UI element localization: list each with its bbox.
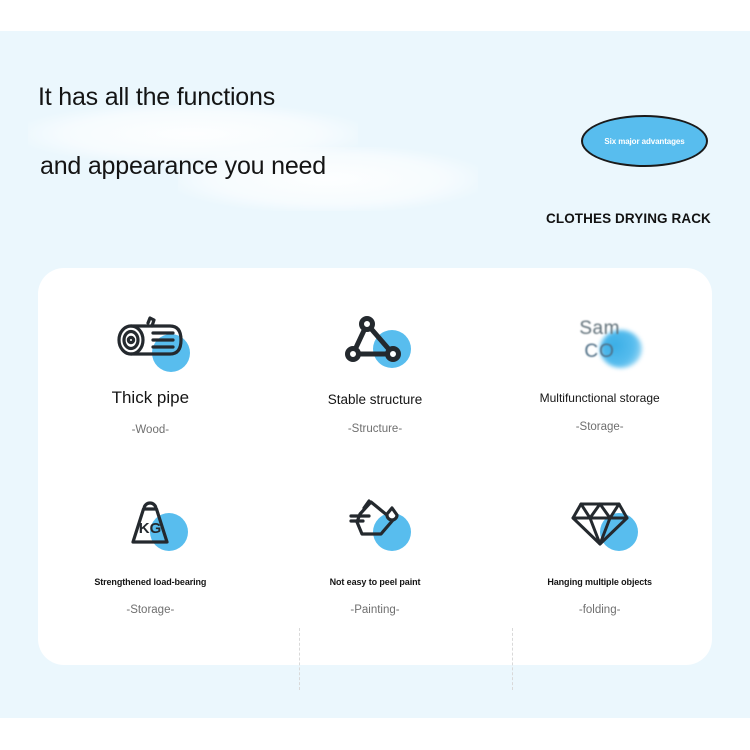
feature-subtitle: -Wood- (132, 424, 170, 436)
headline-line-2: and appearance you need (40, 154, 458, 179)
badge-label: Six major advantages (604, 137, 684, 146)
features-grid: Thick pipe -Wood- Stable structure -Stru… (38, 268, 712, 665)
feature-item-stable-structure[interactable]: Stable structure -Structure- (263, 268, 488, 467)
feature-title: Stable structure (328, 392, 423, 407)
column-divider (299, 628, 300, 690)
feature-item-hanging-objects[interactable]: Hanging multiple objects -folding- (487, 467, 712, 666)
feature-title: Strengthened load-bearing (94, 577, 206, 587)
feature-item-multifunctional-storage[interactable]: Sam CO Multifunctional storage -Storage- (487, 268, 712, 467)
diamond-icon (554, 487, 646, 559)
triangle-nodes-structure-icon (329, 304, 421, 376)
logo-line-1: Sam (579, 319, 620, 338)
feature-item-peel-paint[interactable]: Not easy to peel paint -Painting- (263, 467, 488, 666)
sam-co-logo-icon: Sam CO (554, 304, 646, 376)
logo-line-2: CO (579, 342, 620, 361)
log-wood-icon (104, 304, 196, 376)
feature-subtitle: -folding- (579, 604, 621, 616)
features-card: Thick pipe -Wood- Stable structure -Stru… (38, 268, 712, 665)
six-major-advantages-badge: Six major advantages (581, 115, 708, 167)
feature-item-thick-pipe[interactable]: Thick pipe -Wood- (38, 268, 263, 467)
feature-subtitle: -Storage- (126, 604, 174, 616)
headline-line-1: It has all the functions (38, 85, 458, 110)
feature-title: Multifunctional storage (540, 391, 660, 405)
header-section: It has all the functions and appearance … (0, 31, 750, 268)
feature-subtitle: -Structure- (348, 423, 402, 435)
feature-title: Hanging multiple objects (547, 577, 652, 587)
sam-co-wordmark: Sam CO (579, 319, 620, 361)
svg-text:KG: KG (139, 520, 162, 537)
kg-weight-icon: KG (104, 487, 196, 559)
feature-subtitle: -Painting- (350, 604, 399, 616)
feature-item-load-bearing[interactable]: KG Strengthened load-bearing -Storage- (38, 467, 263, 666)
feature-subtitle: -Storage- (576, 421, 624, 433)
feature-title: Not easy to peel paint (330, 577, 421, 587)
paint-bucket-icon (329, 487, 421, 559)
headline-block: It has all the functions and appearance … (38, 85, 458, 179)
feature-title: Thick pipe (112, 388, 189, 408)
column-divider (512, 628, 513, 690)
brand-label: CLOTHES DRYING RACK (546, 211, 711, 226)
